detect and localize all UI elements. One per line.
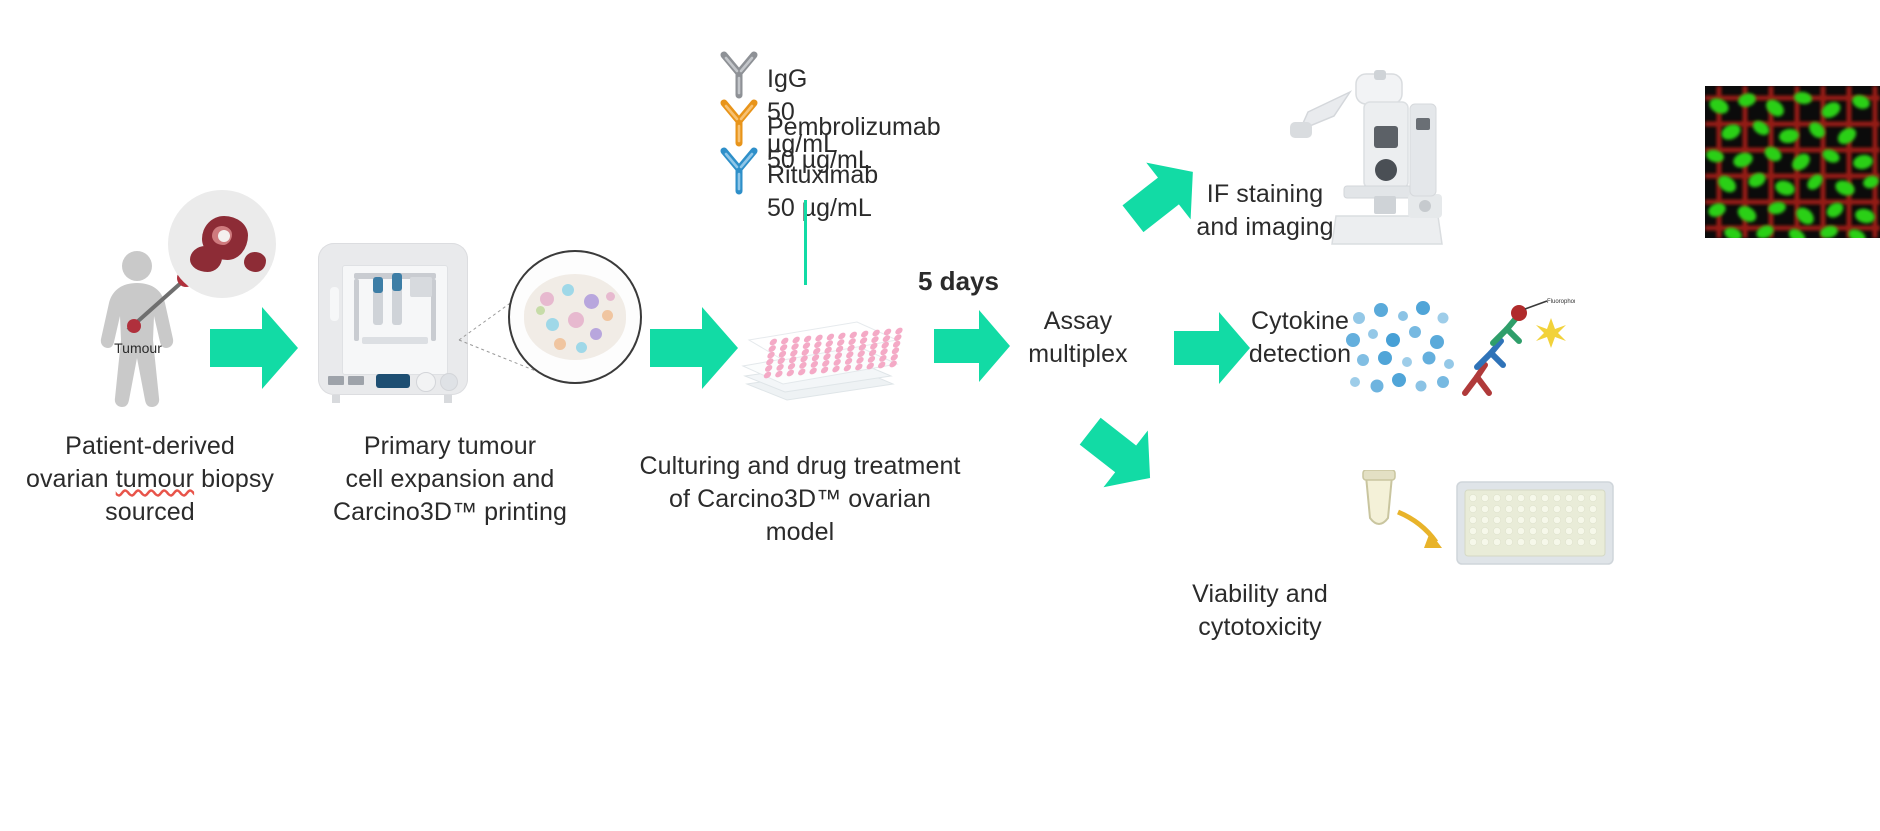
caption-biopsy-line-2: ovarian tumour biopsy	[0, 463, 300, 496]
caption-assay-line-2: multiplex	[1008, 338, 1148, 371]
caption-printing: Primary tumour cell expansion and Carcin…	[320, 430, 580, 529]
arrow-assay-to-viability	[1065, 400, 1175, 509]
readout-viability-line-1: Viability and	[1165, 578, 1355, 611]
arrow-biopsy-to-printer	[208, 305, 300, 391]
arrow-printer-to-plate	[648, 305, 740, 391]
caption-assay-line-1: Assay	[1008, 305, 1148, 338]
caption-culturing: Culturing and drug treatment of Carcino3…	[630, 450, 970, 549]
caption-culturing-line-3: model	[630, 516, 970, 549]
treatment-connector-line	[804, 200, 807, 285]
antibody-assay-icon: Fluorophore	[1455, 295, 1575, 400]
tumour-tissue-circle-icon	[168, 190, 276, 298]
readout-viability-line-2: cytotoxicity	[1165, 611, 1355, 644]
svg-text:Fluorophore: Fluorophore	[1547, 299, 1575, 305]
microscope-icon	[1278, 68, 1458, 253]
caption-printing-line-3: Carcino3D™ printing	[320, 496, 580, 529]
caption-biopsy-line-2-text: ovarian	[26, 465, 116, 493]
caption-printing-line-1: Primary tumour	[320, 430, 580, 463]
microplate-96-well-icon	[735, 300, 905, 410]
caption-biopsy-line-1: Patient-derived	[0, 430, 300, 463]
misspelled-tumour: tumour	[116, 465, 194, 493]
cytokine-dots-icon	[1345, 300, 1455, 400]
caption-biopsy-line-3: sourced	[0, 496, 300, 529]
arrow-plate-to-assay	[932, 308, 1012, 384]
antibody-icon-rituximab	[715, 144, 763, 201]
caption-biopsy: Patient-derived ovarian tumour biopsy so…	[0, 430, 300, 529]
cell-zoom-circle-icon	[508, 250, 642, 384]
caption-culturing-line-1: Culturing and drug treatment	[630, 450, 970, 483]
treatment-label-rituximab: Rituximab 50 µg/mL	[767, 159, 878, 224]
caption-printing-line-2: cell expansion and	[320, 463, 580, 496]
pipette-tip-icon	[1352, 470, 1472, 560]
workflow-diagram: Tumour Patient-derived ovarian tumour bi…	[0, 0, 1880, 831]
duration-label: 5 days	[918, 265, 999, 299]
bioprinter-icon	[318, 243, 468, 408]
fluorescence-micrograph-icon	[1705, 86, 1880, 238]
assay-plate-icon	[1455, 478, 1615, 568]
tumour-body-label: Tumour	[103, 340, 173, 356]
caption-assay-multiplex: Assay multiplex	[1008, 305, 1148, 371]
caption-culturing-line-2: of Carcino3D™ ovarian	[630, 483, 970, 516]
readout-label-viability: Viability and cytotoxicity	[1165, 578, 1355, 644]
